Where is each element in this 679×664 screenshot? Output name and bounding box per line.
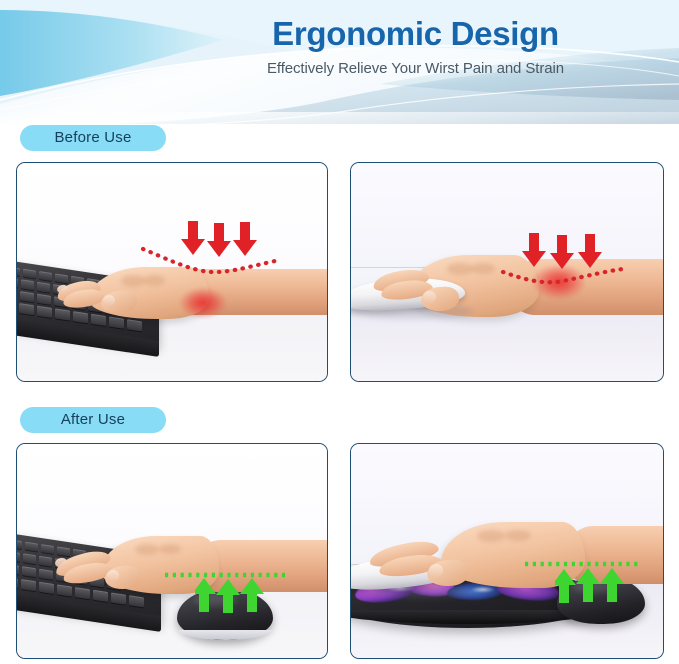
section-badge-before-use: Before Use	[20, 125, 166, 151]
photo-before-keyboard	[17, 163, 327, 381]
support-dotted-line	[17, 444, 327, 658]
support-dotted-line	[351, 444, 663, 658]
pressure-arrow-group-down	[521, 233, 607, 271]
photo-before-mouse	[351, 163, 663, 381]
page-subtitle: Effectively Relieve Your Wirst Pain and …	[0, 60, 671, 77]
page-title: Ergonomic Design	[0, 15, 671, 53]
panel-before-keyboard	[16, 162, 328, 382]
pressure-dotted-line	[351, 163, 663, 381]
header-banner: Ergonomic Design Effectively Relieve You…	[0, 0, 679, 132]
pressure-dotted-line	[17, 163, 327, 381]
support-arrow-group-up	[555, 568, 627, 604]
photo-after-mouse	[351, 444, 663, 658]
panel-after-keyboard	[16, 443, 328, 659]
panel-after-mouse	[350, 443, 664, 659]
photo-after-keyboard	[17, 444, 327, 658]
support-arrow-group-up	[195, 578, 267, 614]
panel-before-mouse	[350, 162, 664, 382]
infographic-page: Ergonomic Design Effectively Relieve You…	[0, 0, 679, 664]
section-badge-after-use: After Use	[20, 407, 166, 433]
pressure-arrow-group-down	[180, 221, 260, 259]
